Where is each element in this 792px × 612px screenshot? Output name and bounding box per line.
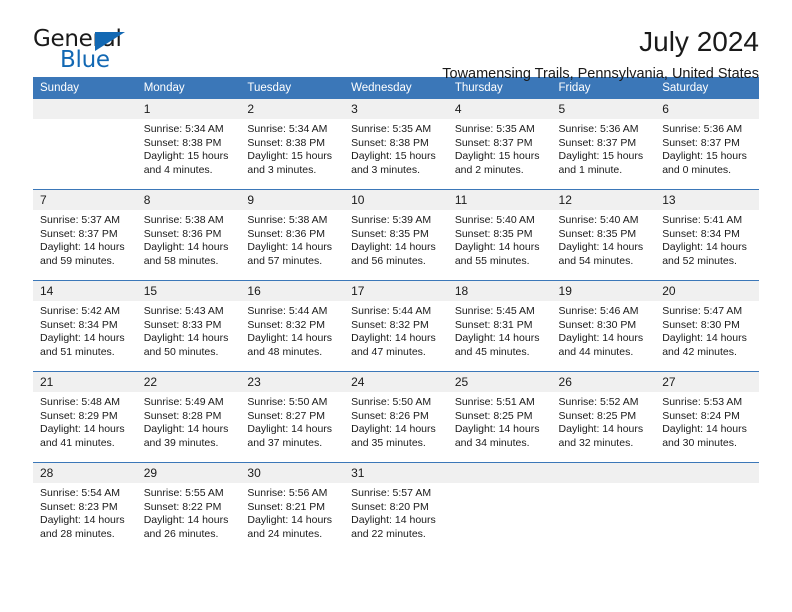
day-details: Sunrise: 5:56 AMSunset: 8:21 PMDaylight:… — [240, 483, 344, 541]
sunrise-text: Sunrise: 5:44 AM — [351, 305, 442, 319]
daylight-text-line1: Daylight: 14 hours — [662, 423, 753, 437]
calendar-page: General Blue July 2024 Towamensing Trail… — [0, 0, 792, 612]
day-details: Sunrise: 5:40 AMSunset: 8:35 PMDaylight:… — [448, 210, 552, 268]
day-number: 18 — [448, 281, 552, 301]
daylight-text-line2: and 3 minutes. — [247, 164, 338, 178]
sunrise-text: Sunrise: 5:40 AM — [559, 214, 650, 228]
daylight-text-line1: Daylight: 14 hours — [247, 241, 338, 255]
day-details: Sunrise: 5:44 AMSunset: 8:32 PMDaylight:… — [344, 301, 448, 359]
calendar-week-row: 14Sunrise: 5:42 AMSunset: 8:34 PMDayligh… — [33, 281, 759, 372]
day-number: 3 — [344, 99, 448, 119]
daylight-text-line1: Daylight: 14 hours — [351, 423, 442, 437]
sunset-text: Sunset: 8:33 PM — [144, 319, 235, 333]
day-number: 21 — [33, 372, 137, 392]
calendar-body: 1Sunrise: 5:34 AMSunset: 8:38 PMDaylight… — [33, 99, 759, 553]
daylight-text-line1: Daylight: 14 hours — [351, 241, 442, 255]
sunset-text: Sunset: 8:30 PM — [662, 319, 753, 333]
daylight-text-line2: and 47 minutes. — [351, 346, 442, 360]
sunset-text: Sunset: 8:20 PM — [351, 501, 442, 515]
day-details: Sunrise: 5:36 AMSunset: 8:37 PMDaylight:… — [552, 119, 656, 177]
daylight-text-line1: Daylight: 14 hours — [247, 423, 338, 437]
sunrise-text: Sunrise: 5:35 AM — [455, 123, 546, 137]
daylight-text-line2: and 32 minutes. — [559, 437, 650, 451]
day-number: 1 — [137, 99, 241, 119]
page-subtitle: Towamensing Trails, Pennsylvania, United… — [163, 64, 759, 84]
sunset-text: Sunset: 8:35 PM — [455, 228, 546, 242]
daylight-text-line1: Daylight: 14 hours — [559, 332, 650, 346]
calendar-day-cell[interactable]: 12Sunrise: 5:40 AMSunset: 8:35 PMDayligh… — [552, 190, 656, 281]
sunset-text: Sunset: 8:38 PM — [351, 137, 442, 151]
day-details: Sunrise: 5:35 AMSunset: 8:38 PMDaylight:… — [344, 119, 448, 177]
day-details: Sunrise: 5:53 AMSunset: 8:24 PMDaylight:… — [655, 392, 759, 450]
sunset-text: Sunset: 8:37 PM — [662, 137, 753, 151]
daylight-text-line1: Daylight: 14 hours — [559, 423, 650, 437]
daylight-text-line1: Daylight: 14 hours — [144, 241, 235, 255]
calendar-day-cell[interactable]: 3Sunrise: 5:35 AMSunset: 8:38 PMDaylight… — [344, 99, 448, 190]
day-details: Sunrise: 5:39 AMSunset: 8:35 PMDaylight:… — [344, 210, 448, 268]
day-number: 27 — [655, 372, 759, 392]
day-number: 25 — [448, 372, 552, 392]
sunrise-text: Sunrise: 5:40 AM — [455, 214, 546, 228]
general-blue-logo[interactable]: General Blue — [33, 26, 163, 74]
sunrise-text: Sunrise: 5:43 AM — [144, 305, 235, 319]
sunrise-text: Sunrise: 5:41 AM — [662, 214, 753, 228]
calendar-day-cell[interactable]: 24Sunrise: 5:50 AMSunset: 8:26 PMDayligh… — [344, 372, 448, 463]
sunrise-text: Sunrise: 5:53 AM — [662, 396, 753, 410]
day-number: 13 — [655, 190, 759, 210]
sunrise-text: Sunrise: 5:50 AM — [351, 396, 442, 410]
day-details: Sunrise: 5:43 AMSunset: 8:33 PMDaylight:… — [137, 301, 241, 359]
day-number: 6 — [655, 99, 759, 119]
daylight-text-line2: and 3 minutes. — [351, 164, 442, 178]
daylight-text-line1: Daylight: 15 hours — [144, 150, 235, 164]
day-number: 23 — [240, 372, 344, 392]
calendar-table: Sunday Monday Tuesday Wednesday Thursday… — [33, 77, 759, 553]
calendar-day-cell[interactable]: 10Sunrise: 5:39 AMSunset: 8:35 PMDayligh… — [344, 190, 448, 281]
daylight-text-line1: Daylight: 14 hours — [247, 514, 338, 528]
day-number: 4 — [448, 99, 552, 119]
day-details: Sunrise: 5:41 AMSunset: 8:34 PMDaylight:… — [655, 210, 759, 268]
day-number: 28 — [33, 463, 137, 483]
calendar-day-cell[interactable]: 2Sunrise: 5:34 AMSunset: 8:38 PMDaylight… — [240, 99, 344, 190]
calendar-day-cell[interactable]: 23Sunrise: 5:50 AMSunset: 8:27 PMDayligh… — [240, 372, 344, 463]
calendar-day-cell[interactable]: 1Sunrise: 5:34 AMSunset: 8:38 PMDaylight… — [137, 99, 241, 190]
daylight-text-line2: and 50 minutes. — [144, 346, 235, 360]
sunrise-text: Sunrise: 5:36 AM — [662, 123, 753, 137]
title-block: July 2024 Towamensing Trails, Pennsylvan… — [163, 26, 759, 84]
day-details: Sunrise: 5:50 AMSunset: 8:27 PMDaylight:… — [240, 392, 344, 450]
day-number: 29 — [137, 463, 241, 483]
calendar-day-cell[interactable]: 26Sunrise: 5:52 AMSunset: 8:25 PMDayligh… — [552, 372, 656, 463]
sunset-text: Sunset: 8:35 PM — [351, 228, 442, 242]
daylight-text-line2: and 4 minutes. — [144, 164, 235, 178]
sunset-text: Sunset: 8:29 PM — [40, 410, 131, 424]
day-number: 31 — [344, 463, 448, 483]
daylight-text-line2: and 45 minutes. — [455, 346, 546, 360]
daylight-text-line2: and 37 minutes. — [247, 437, 338, 451]
day-details: Sunrise: 5:57 AMSunset: 8:20 PMDaylight:… — [344, 483, 448, 541]
calendar-day-cell[interactable]: 31Sunrise: 5:57 AMSunset: 8:20 PMDayligh… — [344, 463, 448, 554]
day-details: Sunrise: 5:42 AMSunset: 8:34 PMDaylight:… — [33, 301, 137, 359]
daylight-text-line1: Daylight: 14 hours — [144, 423, 235, 437]
calendar-day-cell[interactable]: 5Sunrise: 5:36 AMSunset: 8:37 PMDaylight… — [552, 99, 656, 190]
day-number: 8 — [137, 190, 241, 210]
sunrise-text: Sunrise: 5:56 AM — [247, 487, 338, 501]
daylight-text-line2: and 22 minutes. — [351, 528, 442, 542]
sunset-text: Sunset: 8:37 PM — [40, 228, 131, 242]
daylight-text-line1: Daylight: 14 hours — [40, 514, 131, 528]
day-number: 5 — [552, 99, 656, 119]
sunset-text: Sunset: 8:24 PM — [662, 410, 753, 424]
sunrise-text: Sunrise: 5:52 AM — [559, 396, 650, 410]
sunrise-text: Sunrise: 5:50 AM — [247, 396, 338, 410]
day-details: Sunrise: 5:55 AMSunset: 8:22 PMDaylight:… — [137, 483, 241, 541]
daylight-text-line2: and 26 minutes. — [144, 528, 235, 542]
daylight-text-line1: Daylight: 14 hours — [662, 332, 753, 346]
sunrise-text: Sunrise: 5:55 AM — [144, 487, 235, 501]
day-details: Sunrise: 5:48 AMSunset: 8:29 PMDaylight:… — [33, 392, 137, 450]
day-details: Sunrise: 5:40 AMSunset: 8:35 PMDaylight:… — [552, 210, 656, 268]
sunrise-text: Sunrise: 5:45 AM — [455, 305, 546, 319]
day-number: 11 — [448, 190, 552, 210]
calendar-day-cell[interactable]: 18Sunrise: 5:45 AMSunset: 8:31 PMDayligh… — [448, 281, 552, 372]
day-number — [655, 463, 759, 483]
sunset-text: Sunset: 8:22 PM — [144, 501, 235, 515]
sunset-text: Sunset: 8:38 PM — [247, 137, 338, 151]
sunset-text: Sunset: 8:37 PM — [455, 137, 546, 151]
calendar-day-cell[interactable]: 17Sunrise: 5:44 AMSunset: 8:32 PMDayligh… — [344, 281, 448, 372]
sunrise-text: Sunrise: 5:36 AM — [559, 123, 650, 137]
sunrise-text: Sunrise: 5:47 AM — [662, 305, 753, 319]
calendar-day-cell[interactable]: 27Sunrise: 5:53 AMSunset: 8:24 PMDayligh… — [655, 372, 759, 463]
sunrise-text: Sunrise: 5:42 AM — [40, 305, 131, 319]
day-number: 10 — [344, 190, 448, 210]
daylight-text-line1: Daylight: 14 hours — [455, 241, 546, 255]
calendar-day-cell[interactable]: 25Sunrise: 5:51 AMSunset: 8:25 PMDayligh… — [448, 372, 552, 463]
calendar-day-cell[interactable]: 14Sunrise: 5:42 AMSunset: 8:34 PMDayligh… — [33, 281, 137, 372]
calendar-day-cell[interactable]: 22Sunrise: 5:49 AMSunset: 8:28 PMDayligh… — [137, 372, 241, 463]
sunrise-text: Sunrise: 5:39 AM — [351, 214, 442, 228]
calendar-day-cell[interactable]: 9Sunrise: 5:38 AMSunset: 8:36 PMDaylight… — [240, 190, 344, 281]
day-number — [448, 463, 552, 483]
daylight-text-line1: Daylight: 15 hours — [247, 150, 338, 164]
sunrise-text: Sunrise: 5:38 AM — [144, 214, 235, 228]
daylight-text-line1: Daylight: 14 hours — [40, 332, 131, 346]
sunset-text: Sunset: 8:31 PM — [455, 319, 546, 333]
sunset-text: Sunset: 8:32 PM — [351, 319, 442, 333]
sunrise-text: Sunrise: 5:34 AM — [144, 123, 235, 137]
sunset-text: Sunset: 8:30 PM — [559, 319, 650, 333]
sunset-text: Sunset: 8:34 PM — [40, 319, 131, 333]
calendar-day-cell[interactable]: 13Sunrise: 5:41 AMSunset: 8:34 PMDayligh… — [655, 190, 759, 281]
daylight-text-line1: Daylight: 14 hours — [144, 332, 235, 346]
calendar-day-cell[interactable]: 8Sunrise: 5:38 AMSunset: 8:36 PMDaylight… — [137, 190, 241, 281]
sunset-text: Sunset: 8:36 PM — [247, 228, 338, 242]
calendar-week-row: 28Sunrise: 5:54 AMSunset: 8:23 PMDayligh… — [33, 463, 759, 554]
calendar-day-cell[interactable]: 28Sunrise: 5:54 AMSunset: 8:23 PMDayligh… — [33, 463, 137, 554]
daylight-text-line2: and 56 minutes. — [351, 255, 442, 269]
sunrise-text: Sunrise: 5:51 AM — [455, 396, 546, 410]
day-details: Sunrise: 5:44 AMSunset: 8:32 PMDaylight:… — [240, 301, 344, 359]
daylight-text-line1: Daylight: 14 hours — [247, 332, 338, 346]
day-number — [552, 463, 656, 483]
calendar-day-cell[interactable]: 16Sunrise: 5:44 AMSunset: 8:32 PMDayligh… — [240, 281, 344, 372]
daylight-text-line1: Daylight: 14 hours — [455, 332, 546, 346]
day-number: 14 — [33, 281, 137, 301]
calendar-week-row: 1Sunrise: 5:34 AMSunset: 8:38 PMDaylight… — [33, 99, 759, 190]
day-details: Sunrise: 5:46 AMSunset: 8:30 PMDaylight:… — [552, 301, 656, 359]
calendar-day-cell[interactable]: 4Sunrise: 5:35 AMSunset: 8:37 PMDaylight… — [448, 99, 552, 190]
calendar-empty-cell — [655, 463, 759, 554]
daylight-text-line1: Daylight: 14 hours — [40, 423, 131, 437]
day-details: Sunrise: 5:34 AMSunset: 8:38 PMDaylight:… — [137, 119, 241, 177]
day-details: Sunrise: 5:37 AMSunset: 8:37 PMDaylight:… — [33, 210, 137, 268]
day-details: Sunrise: 5:38 AMSunset: 8:36 PMDaylight:… — [137, 210, 241, 268]
daylight-text-line1: Daylight: 14 hours — [351, 514, 442, 528]
day-details: Sunrise: 5:52 AMSunset: 8:25 PMDaylight:… — [552, 392, 656, 450]
daylight-text-line2: and 54 minutes. — [559, 255, 650, 269]
calendar-day-cell[interactable]: 15Sunrise: 5:43 AMSunset: 8:33 PMDayligh… — [137, 281, 241, 372]
sunset-text: Sunset: 8:36 PM — [144, 228, 235, 242]
sunrise-text: Sunrise: 5:57 AM — [351, 487, 442, 501]
day-number: 2 — [240, 99, 344, 119]
day-details: Sunrise: 5:38 AMSunset: 8:36 PMDaylight:… — [240, 210, 344, 268]
day-details: Sunrise: 5:34 AMSunset: 8:38 PMDaylight:… — [240, 119, 344, 177]
calendar-empty-cell — [33, 99, 137, 190]
calendar-week-row: 21Sunrise: 5:48 AMSunset: 8:29 PMDayligh… — [33, 372, 759, 463]
sunrise-text: Sunrise: 5:37 AM — [40, 214, 131, 228]
daylight-text-line2: and 58 minutes. — [144, 255, 235, 269]
calendar-empty-cell — [448, 463, 552, 554]
daylight-text-line2: and 44 minutes. — [559, 346, 650, 360]
day-details: Sunrise: 5:45 AMSunset: 8:31 PMDaylight:… — [448, 301, 552, 359]
sunset-text: Sunset: 8:38 PM — [144, 137, 235, 151]
calendar-day-cell[interactable]: 11Sunrise: 5:40 AMSunset: 8:35 PMDayligh… — [448, 190, 552, 281]
daylight-text-line2: and 42 minutes. — [662, 346, 753, 360]
sunset-text: Sunset: 8:25 PM — [559, 410, 650, 424]
daylight-text-line2: and 1 minute. — [559, 164, 650, 178]
sunset-text: Sunset: 8:27 PM — [247, 410, 338, 424]
sunset-text: Sunset: 8:26 PM — [351, 410, 442, 424]
daylight-text-line2: and 35 minutes. — [351, 437, 442, 451]
daylight-text-line2: and 34 minutes. — [455, 437, 546, 451]
sunrise-text: Sunrise: 5:49 AM — [144, 396, 235, 410]
day-number: 20 — [655, 281, 759, 301]
daylight-text-line2: and 52 minutes. — [662, 255, 753, 269]
day-number: 15 — [137, 281, 241, 301]
sunset-text: Sunset: 8:32 PM — [247, 319, 338, 333]
weekday-header-sunday: Sunday — [33, 77, 137, 99]
day-details: Sunrise: 5:49 AMSunset: 8:28 PMDaylight:… — [137, 392, 241, 450]
daylight-text-line1: Daylight: 15 hours — [662, 150, 753, 164]
daylight-text-line1: Daylight: 14 hours — [144, 514, 235, 528]
day-number: 12 — [552, 190, 656, 210]
page-title: July 2024 — [163, 26, 759, 58]
day-details: Sunrise: 5:54 AMSunset: 8:23 PMDaylight:… — [33, 483, 137, 541]
day-details: Sunrise: 5:36 AMSunset: 8:37 PMDaylight:… — [655, 119, 759, 177]
daylight-text-line2: and 24 minutes. — [247, 528, 338, 542]
daylight-text-line2: and 41 minutes. — [40, 437, 131, 451]
daylight-text-line1: Daylight: 15 hours — [559, 150, 650, 164]
daylight-text-line1: Daylight: 14 hours — [40, 241, 131, 255]
sunrise-text: Sunrise: 5:44 AM — [247, 305, 338, 319]
calendar-empty-cell — [552, 463, 656, 554]
page-header: General Blue July 2024 Towamensing Trail… — [33, 0, 759, 72]
day-details: Sunrise: 5:35 AMSunset: 8:37 PMDaylight:… — [448, 119, 552, 177]
daylight-text-line1: Daylight: 14 hours — [455, 423, 546, 437]
sunrise-text: Sunrise: 5:54 AM — [40, 487, 131, 501]
daylight-text-line2: and 55 minutes. — [455, 255, 546, 269]
sunset-text: Sunset: 8:34 PM — [662, 228, 753, 242]
daylight-text-line1: Daylight: 14 hours — [559, 241, 650, 255]
calendar-day-cell[interactable]: 21Sunrise: 5:48 AMSunset: 8:29 PMDayligh… — [33, 372, 137, 463]
day-details: Sunrise: 5:50 AMSunset: 8:26 PMDaylight:… — [344, 392, 448, 450]
daylight-text-line1: Daylight: 15 hours — [351, 150, 442, 164]
day-details: Sunrise: 5:51 AMSunset: 8:25 PMDaylight:… — [448, 392, 552, 450]
sunrise-text: Sunrise: 5:34 AM — [247, 123, 338, 137]
day-number — [33, 99, 137, 119]
daylight-text-line2: and 30 minutes. — [662, 437, 753, 451]
sunset-text: Sunset: 8:37 PM — [559, 137, 650, 151]
daylight-text-line2: and 2 minutes. — [455, 164, 546, 178]
logo-text-blue: Blue — [60, 47, 110, 73]
day-number: 22 — [137, 372, 241, 392]
sunset-text: Sunset: 8:21 PM — [247, 501, 338, 515]
day-number: 30 — [240, 463, 344, 483]
daylight-text-line2: and 57 minutes. — [247, 255, 338, 269]
daylight-text-line1: Daylight: 14 hours — [662, 241, 753, 255]
sunset-text: Sunset: 8:28 PM — [144, 410, 235, 424]
calendar-day-cell[interactable]: 19Sunrise: 5:46 AMSunset: 8:30 PMDayligh… — [552, 281, 656, 372]
calendar-day-cell[interactable]: 6Sunrise: 5:36 AMSunset: 8:37 PMDaylight… — [655, 99, 759, 190]
calendar-day-cell[interactable]: 7Sunrise: 5:37 AMSunset: 8:37 PMDaylight… — [33, 190, 137, 281]
daylight-text-line1: Daylight: 14 hours — [351, 332, 442, 346]
daylight-text-line2: and 48 minutes. — [247, 346, 338, 360]
sunrise-text: Sunrise: 5:46 AM — [559, 305, 650, 319]
calendar-week-row: 7Sunrise: 5:37 AMSunset: 8:37 PMDaylight… — [33, 190, 759, 281]
calendar-day-cell[interactable]: 30Sunrise: 5:56 AMSunset: 8:21 PMDayligh… — [240, 463, 344, 554]
daylight-text-line1: Daylight: 15 hours — [455, 150, 546, 164]
daylight-text-line2: and 28 minutes. — [40, 528, 131, 542]
day-number: 7 — [33, 190, 137, 210]
day-details: Sunrise: 5:47 AMSunset: 8:30 PMDaylight:… — [655, 301, 759, 359]
sunrise-text: Sunrise: 5:35 AM — [351, 123, 442, 137]
daylight-text-line2: and 59 minutes. — [40, 255, 131, 269]
calendar-day-cell[interactable]: 29Sunrise: 5:55 AMSunset: 8:22 PMDayligh… — [137, 463, 241, 554]
calendar-day-cell[interactable]: 20Sunrise: 5:47 AMSunset: 8:30 PMDayligh… — [655, 281, 759, 372]
sunset-text: Sunset: 8:25 PM — [455, 410, 546, 424]
day-number: 16 — [240, 281, 344, 301]
daylight-text-line2: and 51 minutes. — [40, 346, 131, 360]
day-number: 19 — [552, 281, 656, 301]
sunset-text: Sunset: 8:35 PM — [559, 228, 650, 242]
sunset-text: Sunset: 8:23 PM — [40, 501, 131, 515]
sunrise-text: Sunrise: 5:48 AM — [40, 396, 131, 410]
day-number: 9 — [240, 190, 344, 210]
sunrise-text: Sunrise: 5:38 AM — [247, 214, 338, 228]
daylight-text-line2: and 39 minutes. — [144, 437, 235, 451]
day-number: 26 — [552, 372, 656, 392]
daylight-text-line2: and 0 minutes. — [662, 164, 753, 178]
day-number: 17 — [344, 281, 448, 301]
day-number: 24 — [344, 372, 448, 392]
